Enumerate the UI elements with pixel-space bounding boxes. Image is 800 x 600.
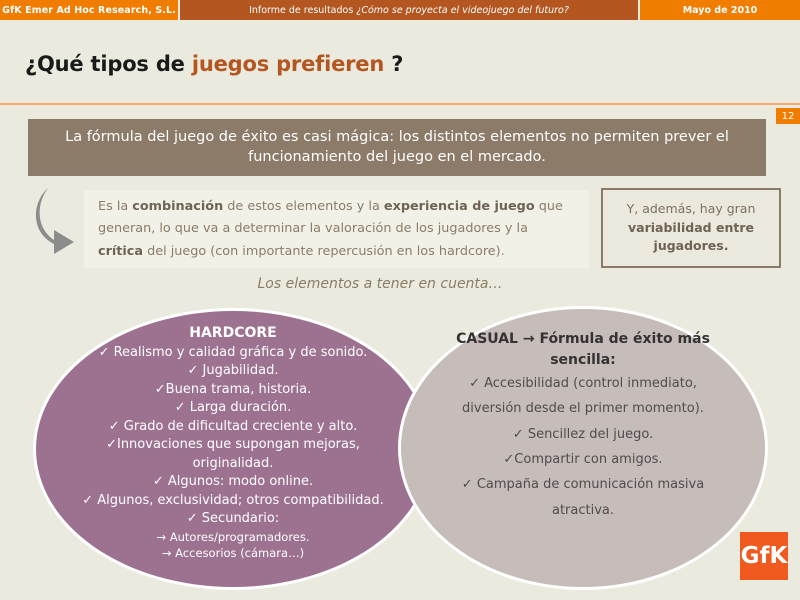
casual-item: diversión desde el primer momento). <box>462 396 704 421</box>
header-company-label: GfK Emer Ad Hoc Research, S.L. <box>0 0 178 20</box>
header-date-label: Mayo de 2010 <box>640 0 800 20</box>
hardcore-item: ✓Innovaciones que supongan mejoras, <box>82 436 384 454</box>
hardcore-item: ✓ Algunos, exclusividad; otros compatibi… <box>82 492 384 510</box>
hardcore-item: ✓ Jugabilidad. <box>82 362 384 380</box>
hardcore-subitem: → Accesorios (cámara…) <box>82 545 384 561</box>
paragraph-bold3: crítica <box>98 244 143 259</box>
explanation-paragraph: Es la combinación de estos elementos y l… <box>84 190 589 268</box>
paragraph-seg4: del juego (con importante repercusión en… <box>143 244 505 259</box>
header-report-prefix: Informe de resultados <box>249 5 353 16</box>
elements-caption: Los elementos a tener en cuenta… <box>0 276 760 292</box>
paragraph-bold2: experiencia de juego <box>384 199 535 214</box>
hardcore-item: ✓ Secundario: <box>82 510 384 528</box>
hardcore-title: HARDCORE <box>189 323 276 344</box>
casual-title: CASUAL → Fórmula de éxito más sencilla: <box>456 329 710 371</box>
hardcore-item: ✓ Realismo y calidad gráfica y de sonido… <box>82 344 384 362</box>
casual-item: ✓ Sencillez del juego. <box>462 422 704 447</box>
gfk-logo: GfK <box>740 532 788 580</box>
page-title-part2: ? <box>384 52 403 76</box>
hardcore-items: ✓ Realismo y calidad gráfica y de sonido… <box>82 344 384 561</box>
top-header-bar: GfK Emer Ad Hoc Research, S.L. Informe d… <box>0 0 800 20</box>
page-number-badge: 12 <box>776 108 800 124</box>
hardcore-item: ✓Buena trama, historia. <box>82 381 384 399</box>
header-report-title: Informe de resultados ¿Cómo se proyecta … <box>180 0 638 20</box>
casual-item: atractiva. <box>462 498 704 523</box>
title-divider-rule <box>0 103 800 105</box>
side-note-box: Y, además, hay gran variabilidad entre j… <box>601 188 781 268</box>
page-title: ¿Qué tipos de juegos prefieren ? <box>25 52 403 76</box>
side-note-text: Y, además, hay gran variabilidad entre j… <box>611 200 771 256</box>
casual-items: ✓ Accesibilidad (control inmediato, dive… <box>462 371 704 523</box>
hardcore-item: ✓ Larga duración. <box>82 399 384 417</box>
casual-item: ✓Compartir con amigos. <box>462 447 704 472</box>
page-title-part1: ¿Qué tipos de <box>25 52 192 76</box>
hardcore-ellipse: HARDCORE ✓ Realismo y calidad gráfica y … <box>33 308 433 590</box>
side-note-bold1: variabilidad entre jugadores. <box>628 220 754 254</box>
hardcore-item: ✓ Algunos: modo online. <box>82 473 384 491</box>
header-report-question: ¿Cómo se proyecta el videojuego del futu… <box>356 5 569 16</box>
paragraph-bold1: combinación <box>132 199 223 214</box>
curved-arrow-icon <box>34 184 90 256</box>
hardcore-item: ✓ Grado de dificultad creciente y alto. <box>82 418 384 436</box>
casual-item: ✓ Accesibilidad (control inmediato, <box>462 371 704 396</box>
paragraph-seg1: Es la <box>98 199 132 214</box>
hardcore-item: originalidad. <box>82 455 384 473</box>
paragraph-seg2: de estos elementos y la <box>223 199 384 214</box>
casual-title-line1: CASUAL → Fórmula de éxito más <box>456 329 710 350</box>
casual-item: ✓ Campaña de comunicación masiva <box>462 472 704 497</box>
page-title-accent: juegos prefieren <box>192 52 384 76</box>
hardcore-subitem: → Autores/programadores. <box>82 529 384 545</box>
casual-title-line2: sencilla: <box>456 350 710 371</box>
side-note-seg1: Y, además, hay gran <box>627 201 756 216</box>
key-statement-banner: La fórmula del juego de éxito es casi má… <box>28 119 766 176</box>
casual-ellipse: CASUAL → Fórmula de éxito más sencilla: … <box>398 306 768 590</box>
